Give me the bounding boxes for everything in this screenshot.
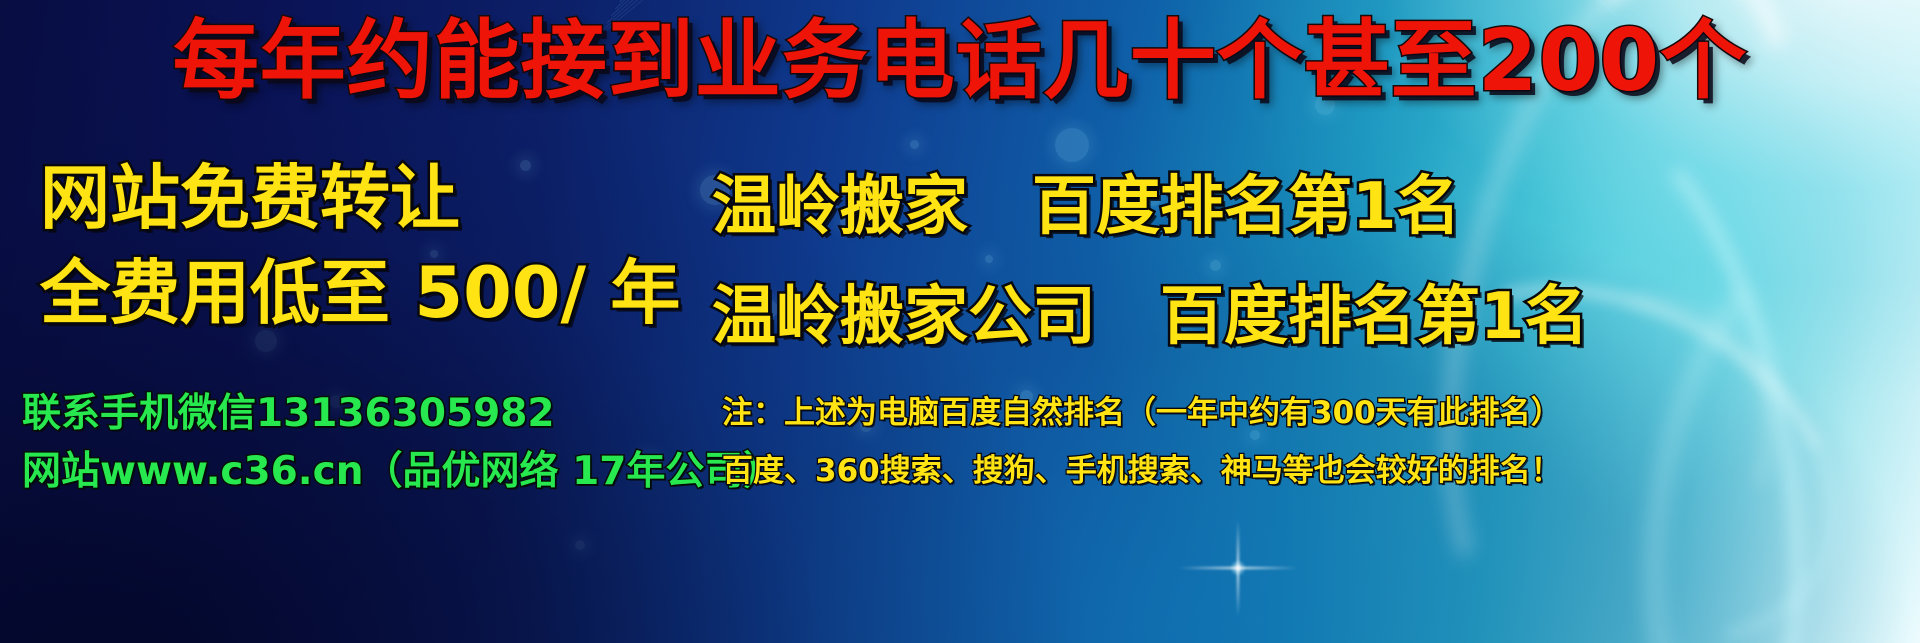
advertisement-banner: 每年约能接到业务电话几十个甚至200个 网站免费转让 全费用低至 500/ 年 … [0, 0, 1920, 643]
note-line-natural-ranking: 注：上述为电脑百度自然排名（一年中约有300天有此排名） [722, 398, 1562, 429]
contact-website: 网站www.c36.cn（品优网络 17年公司） [22, 452, 782, 491]
offer-line-price: 全费用低至 500/ 年 [40, 258, 680, 328]
note-line-other-engines: 百度、360搜索、搜狗、手机搜索、神马等也会较好的排名！ [722, 456, 1562, 487]
sparkle-rays-icon [1236, 566, 1240, 570]
ranking-line-wenling-moving-company: 温岭搬家公司 百度排名第1名 [712, 285, 1589, 349]
offer-line-free-transfer: 网站免费转让 [40, 163, 460, 233]
contact-phone-wechat: 联系手机微信13136305982 [22, 394, 555, 433]
ranking-line-wenling-moving: 温岭搬家 百度排名第1名 [712, 175, 1461, 239]
headline-text: 每年约能接到业务电话几十个甚至200个 [0, 18, 1920, 104]
